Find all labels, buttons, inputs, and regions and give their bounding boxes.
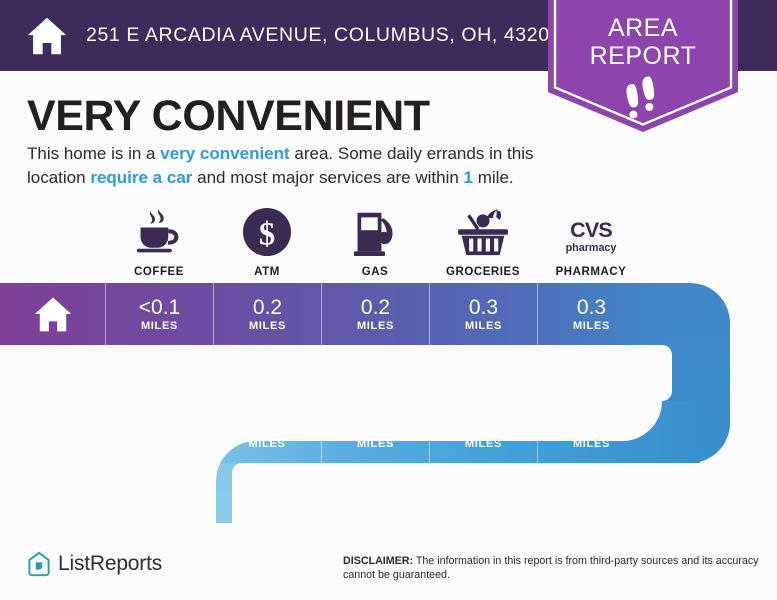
desc-part-3: and most major services are within bbox=[192, 168, 463, 187]
category-groceries: GROCERIES bbox=[429, 205, 537, 278]
home-origin-cell bbox=[0, 283, 105, 345]
desc-highlight-3: 1 bbox=[464, 168, 473, 187]
distance-value: 0.2 bbox=[253, 297, 282, 319]
distance-unit: MILES bbox=[465, 438, 502, 450]
distance-cell-coffee: <0.1 MILES bbox=[105, 283, 213, 345]
distance-unit: MILES bbox=[357, 320, 394, 332]
distance-unit: MILES bbox=[465, 320, 502, 332]
category-icon-row-1: COFFEE $ ATM bbox=[105, 205, 645, 278]
home-icon bbox=[26, 16, 68, 56]
distance-value: 0.2 bbox=[361, 297, 390, 319]
category-label: GAS bbox=[362, 266, 389, 278]
distance-value: 0.6 bbox=[252, 415, 281, 437]
category-label: GROCERIES bbox=[446, 266, 520, 278]
category-label: COFFEE bbox=[134, 266, 184, 278]
distance-value: <0.1 bbox=[139, 297, 180, 319]
summary-description: This home is in a very convenient area. … bbox=[27, 142, 557, 189]
cvs-pharmacy-logo: CVS pharmacy bbox=[548, 205, 634, 257]
distance-cell-gym: 0.6 MILES bbox=[321, 401, 429, 463]
listreports-house-icon bbox=[27, 551, 51, 577]
gas-pump-icon bbox=[352, 205, 398, 257]
distance-value: 0.4 bbox=[469, 415, 498, 437]
desc-part-4: mile. bbox=[473, 168, 514, 187]
disclaimer: DISCLAIMER: The information in this repo… bbox=[343, 554, 763, 582]
category-label: ATM bbox=[254, 266, 280, 278]
svg-text:CVS: CVS bbox=[570, 218, 612, 242]
badge-label: AREA REPORT bbox=[548, 14, 738, 70]
distance-unit: MILES bbox=[141, 320, 178, 332]
coffee-cup-icon bbox=[133, 205, 185, 257]
distance-unit: MILES bbox=[248, 438, 285, 450]
home-icon bbox=[33, 295, 73, 333]
distance-unit: MILES bbox=[249, 320, 286, 332]
desc-highlight-1: very convenient bbox=[160, 144, 289, 163]
page-title: VERY CONVENIENT bbox=[27, 92, 430, 141]
area-report-badge: AREA REPORT bbox=[548, 0, 738, 132]
badge-line-1: AREA bbox=[548, 14, 738, 42]
distance-cell-gas: 0.2 MILES bbox=[321, 283, 429, 345]
desc-highlight-2: require a car bbox=[90, 168, 192, 187]
distance-bar-row-1: <0.1 MILES 0.2 MILES 0.2 MILES 0.3 MILES… bbox=[0, 283, 645, 345]
dollar-coin-icon: $ bbox=[242, 205, 292, 257]
distance-value: 0.3 bbox=[577, 297, 606, 319]
distance-cell-movie-theater: 0.6 MILES bbox=[213, 401, 321, 463]
category-pharmacy: CVS pharmacy PHARMACY bbox=[537, 205, 645, 278]
category-label: PHARMACY bbox=[556, 266, 627, 278]
distance-bar-row-2: 0.6 MILES 0.6 MILES 0.4 MILES 0.3 MILES bbox=[213, 401, 645, 463]
distance-cell-medical: 0.3 MILES bbox=[537, 401, 645, 463]
logo-text: ListReports bbox=[58, 552, 162, 576]
disclaimer-label: DISCLAIMER: bbox=[343, 555, 413, 567]
category-atm: $ ATM bbox=[213, 205, 321, 278]
distance-value: 0.3 bbox=[577, 415, 606, 437]
distance-unit: MILES bbox=[573, 438, 610, 450]
badge-line-2: REPORT bbox=[548, 42, 738, 70]
distance-unit: MILES bbox=[573, 320, 610, 332]
distance-cell-groceries: 0.3 MILES bbox=[429, 283, 537, 345]
distance-snake-path: <0.1 MILES 0.2 MILES 0.2 MILES 0.3 MILES… bbox=[0, 283, 777, 523]
svg-text:$: $ bbox=[259, 217, 275, 253]
distance-unit: MILES bbox=[357, 438, 394, 450]
category-coffee: COFFEE bbox=[105, 205, 213, 278]
distance-cell-atm: 0.2 MILES bbox=[213, 283, 321, 345]
category-gas: GAS bbox=[321, 205, 429, 278]
distance-cell-cleaners: 0.4 MILES bbox=[429, 401, 537, 463]
desc-part-1: This home is in a bbox=[27, 144, 160, 163]
area-report-infographic: 251 E ARCADIA AVENUE, COLUMBUS, OH, 4320… bbox=[0, 0, 777, 600]
basket-icon bbox=[455, 205, 511, 257]
svg-text:pharmacy: pharmacy bbox=[566, 242, 617, 254]
distance-value: 0.6 bbox=[361, 415, 390, 437]
property-address: 251 E ARCADIA AVENUE, COLUMBUS, OH, 4320… bbox=[86, 24, 561, 47]
distance-cell-pharmacy: 0.3 MILES bbox=[537, 283, 645, 345]
distance-value: 0.3 bbox=[469, 297, 498, 319]
listreports-logo: ListReports bbox=[27, 551, 162, 577]
